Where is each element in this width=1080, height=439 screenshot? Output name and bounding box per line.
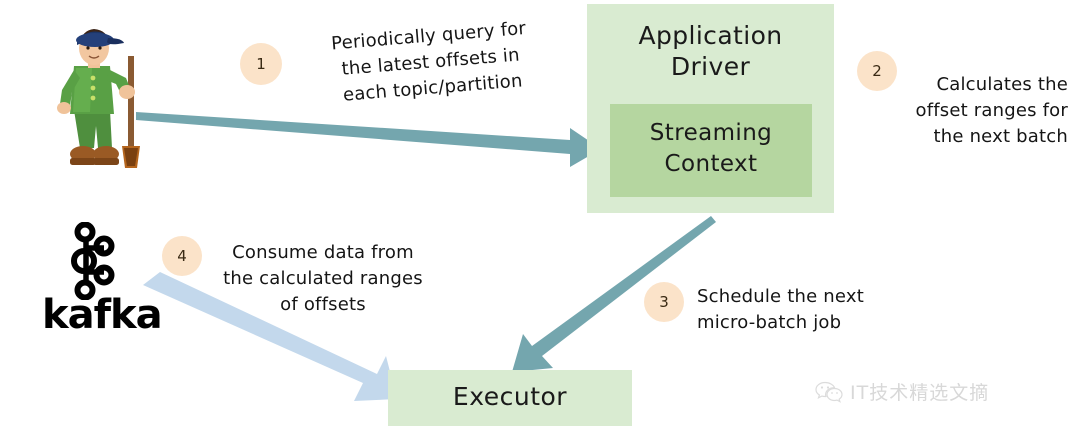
- step-2-text: Calculates the offset ranges for the nex…: [846, 72, 1068, 150]
- step-2-text-group: Calculates the offset ranges for the nex…: [846, 72, 1068, 150]
- kafka-logo: kafka: [42, 222, 152, 334]
- application-driver-label: Application Driver: [587, 20, 834, 82]
- streaming-context-label: Streaming Context: [610, 118, 812, 180]
- executor-box[interactable]: Executor: [388, 370, 632, 426]
- worker-with-shovel-icon: [40, 22, 152, 170]
- kafka-logo-icon: [58, 222, 124, 300]
- arrow-worker-to-driver: [136, 112, 601, 167]
- step-4-badge: 4: [162, 236, 202, 276]
- step-4-text-group: Consume data from the calculated ranges …: [203, 240, 443, 318]
- wechat-icon: [815, 380, 843, 404]
- watermark-text: IT技术精选文摘: [850, 378, 989, 405]
- step-3-text-group: Schedule the next micro-batch job: [697, 284, 927, 336]
- watermark: IT技术精选文摘: [815, 378, 989, 405]
- executor-label: Executor: [388, 382, 632, 411]
- kafka-wordmark: kafka: [42, 292, 162, 338]
- step-1-badge: 1: [240, 43, 282, 85]
- step-4-text: Consume data from the calculated ranges …: [203, 240, 443, 318]
- diagram-canvas: kafka Application Driver Streaming Conte…: [0, 0, 1080, 439]
- step-3-badge: 3: [644, 282, 684, 322]
- arrow-driver-to-executor: [512, 216, 716, 372]
- step-1-number: 1: [256, 55, 266, 73]
- streaming-context-box[interactable]: Streaming Context: [610, 104, 812, 197]
- step-3-number: 3: [659, 293, 669, 311]
- step-4-number: 4: [177, 247, 187, 265]
- step-3-text: Schedule the next micro-batch job: [697, 284, 927, 336]
